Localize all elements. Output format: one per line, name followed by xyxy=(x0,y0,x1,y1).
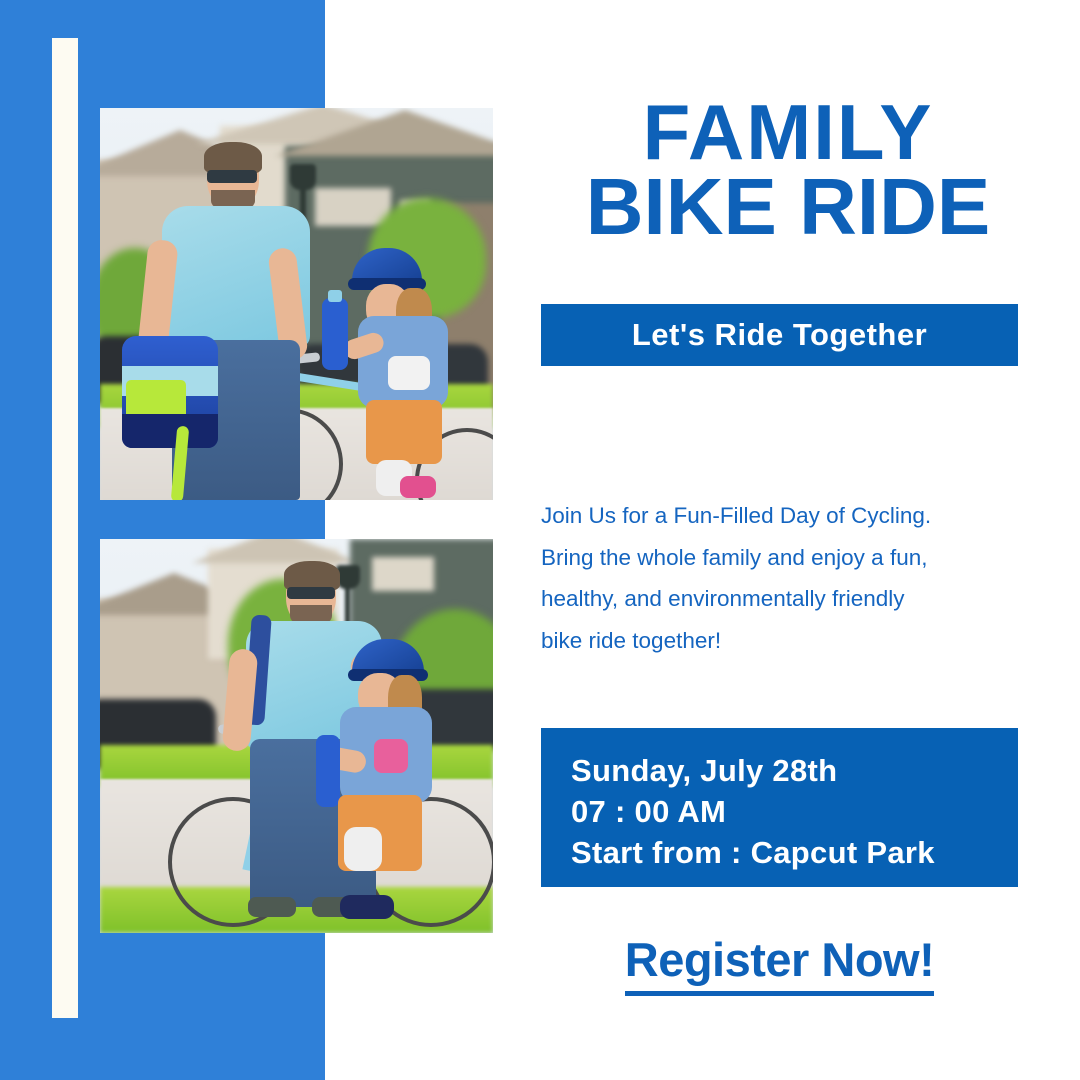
photo-father-and-child-with-bike xyxy=(100,108,493,500)
body-line-3: healthy, and environmentally friendly xyxy=(541,578,1021,620)
photo2-roof-mid xyxy=(192,539,360,563)
body-line-2: Bring the whole family and enjoy a fun, xyxy=(541,537,1021,579)
photo-roof-right xyxy=(275,110,493,156)
photo-child-elbow-pad xyxy=(388,356,430,390)
photo-man-sunglasses xyxy=(207,170,257,183)
photo-child-water-bottle xyxy=(322,298,348,370)
photo-child-shoe xyxy=(400,476,436,498)
subtitle-banner: Let's Ride Together xyxy=(541,304,1018,366)
poster-canvas: FAMILY BIKE RIDE Let's Ride Together Joi… xyxy=(0,0,1080,1080)
photo-street-lamp-head xyxy=(290,164,316,190)
photo-child-shorts xyxy=(366,400,442,464)
body-line-4: bike ride together! xyxy=(541,620,1021,662)
title-line-2: BIKE RIDE xyxy=(543,169,1033,244)
page-title: FAMILY BIKE RIDE xyxy=(543,96,1033,245)
photo2-child-elbow-pad xyxy=(374,739,408,773)
subtitle-text: Let's Ride Together xyxy=(632,317,927,353)
photo2-man-shoe-left xyxy=(248,897,296,917)
title-line-1: FAMILY xyxy=(543,96,1033,169)
photo-child-bottle-cap xyxy=(328,290,342,302)
body-description: Join Us for a Fun-Filled Day of Cycling.… xyxy=(541,495,1021,662)
event-date: Sunday, July 28th xyxy=(571,750,1018,791)
cream-vertical-stripe xyxy=(52,38,78,1018)
photo-father-hugging-child xyxy=(100,539,493,933)
photo2-child-shoe xyxy=(340,895,394,919)
event-location: Start from : Capcut Park xyxy=(571,832,1018,873)
photo2-child-knee-pad xyxy=(344,827,382,871)
event-details-box: Sunday, July 28th 07 : 00 AM Start from … xyxy=(541,728,1018,887)
register-cta[interactable]: Register Now! xyxy=(541,932,1018,996)
body-line-1: Join Us for a Fun-Filled Day of Cycling. xyxy=(541,495,1021,537)
photo-backpack-base xyxy=(122,414,218,448)
photo2-window-strip xyxy=(372,557,434,591)
photo2-man-sunglasses xyxy=(287,587,335,599)
event-time: 07 : 00 AM xyxy=(571,791,1018,832)
register-cta-label[interactable]: Register Now! xyxy=(625,932,935,996)
photo2-child-water-bottle xyxy=(316,735,340,807)
